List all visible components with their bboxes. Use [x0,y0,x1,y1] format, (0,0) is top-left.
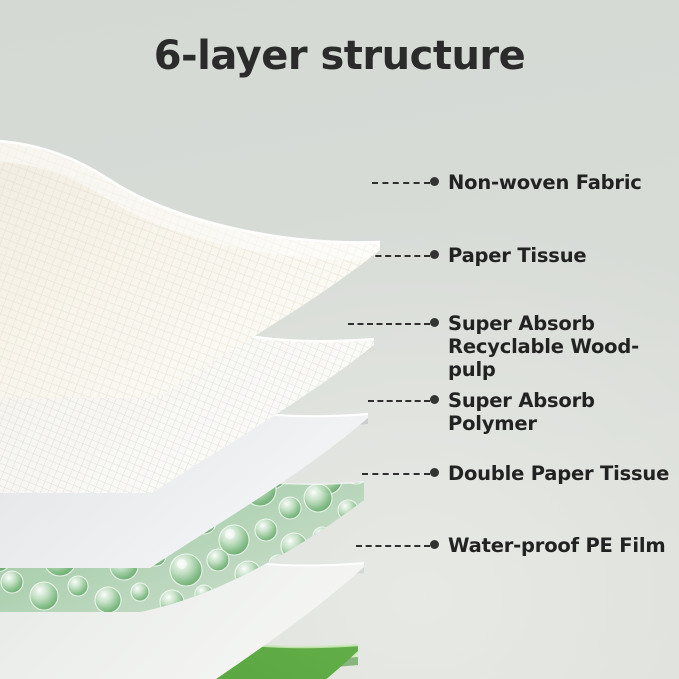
callout-dot-recyclable-wood-pulp [430,318,439,327]
callout-label-non-woven-fabric: Non-woven Fabric [448,171,642,194]
infographic-canvas: 6-layer structure [0,0,679,679]
callout-dot-paper-tissue [430,250,439,259]
layer-stack-illustration [0,100,430,660]
callout-label-double-paper-tissue: Double Paper Tissue [448,462,669,485]
layer-non-woven-fabric [0,120,430,350]
callout-dot-super-absorb-polymer [430,395,439,404]
callout-label-recyclable-wood-pulp: Super Absorb Recyclable Wood-pulp [448,312,679,381]
callout-dot-double-paper-tissue [430,468,439,477]
callout-label-water-proof-pe-film: Water-proof PE Film [448,534,665,557]
callout-label-paper-tissue: Paper Tissue [448,244,586,267]
callout-dot-non-woven-fabric [430,177,439,186]
page-title: 6-layer structure [0,33,679,79]
callout-dot-water-proof-pe-film [430,540,439,549]
callout-label-super-absorb-polymer: Super Absorb Polymer [448,389,679,435]
